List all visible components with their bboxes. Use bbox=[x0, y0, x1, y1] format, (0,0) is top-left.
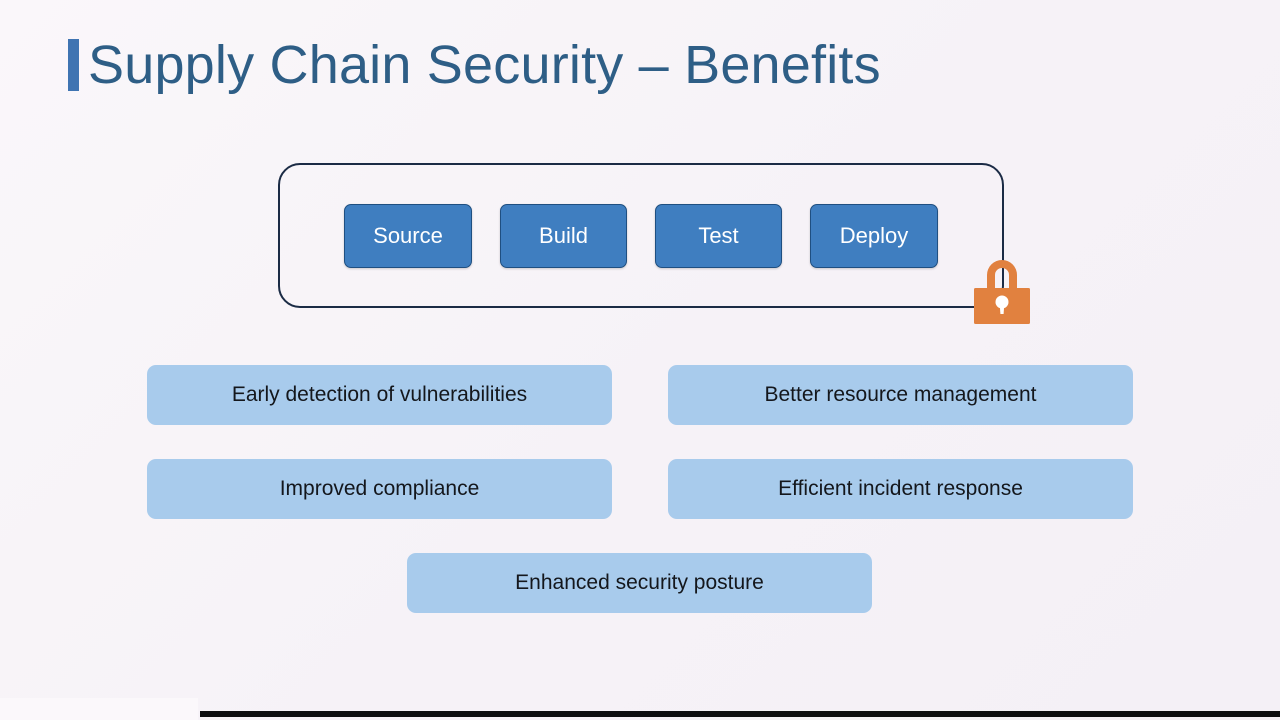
stage-label: Build bbox=[539, 223, 588, 249]
pipeline-stage-deploy[interactable]: Deploy bbox=[810, 204, 938, 268]
footer-ghost-text bbox=[8, 692, 188, 706]
stage-label: Source bbox=[373, 223, 443, 249]
pipeline-stage-test[interactable]: Test bbox=[655, 204, 782, 268]
stage-label: Test bbox=[698, 223, 738, 249]
benefit-card[interactable]: Efficient incident response bbox=[668, 459, 1133, 519]
benefit-label: Enhanced security posture bbox=[515, 571, 764, 595]
benefit-card[interactable]: Early detection of vulnerabilities bbox=[147, 365, 612, 425]
pipeline-stage-build[interactable]: Build bbox=[500, 204, 627, 268]
pipeline-stages: Source Build Test Deploy bbox=[344, 204, 938, 268]
benefit-label: Improved compliance bbox=[280, 477, 480, 501]
slide-canvas: Supply Chain Security – Benefits Source … bbox=[0, 0, 1280, 720]
benefits-grid: Early detection of vulnerabilities Bette… bbox=[0, 0, 1280, 720]
benefit-label: Efficient incident response bbox=[778, 477, 1023, 501]
page-title: Supply Chain Security – Benefits bbox=[68, 38, 881, 92]
benefit-card[interactable]: Better resource management bbox=[668, 365, 1133, 425]
benefit-label: Better resource management bbox=[765, 383, 1037, 407]
footer-bar bbox=[200, 711, 1280, 717]
benefit-card[interactable]: Enhanced security posture bbox=[407, 553, 872, 613]
stage-label: Deploy bbox=[840, 223, 908, 249]
pipeline-stage-source[interactable]: Source bbox=[344, 204, 472, 268]
title-text: Supply Chain Security – Benefits bbox=[88, 38, 881, 92]
benefit-card[interactable]: Improved compliance bbox=[147, 459, 612, 519]
title-accent-bar bbox=[68, 39, 79, 91]
benefit-label: Early detection of vulnerabilities bbox=[232, 383, 527, 407]
padlock-icon bbox=[971, 256, 1033, 326]
